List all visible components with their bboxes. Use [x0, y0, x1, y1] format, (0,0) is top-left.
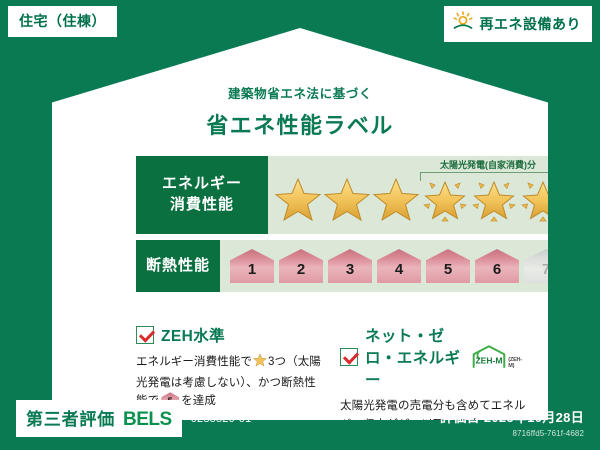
zeh-standard-title: ZEH水準 — [161, 324, 225, 346]
evaluation-footer: 評価日 2025年10月28日 8716ffd5-761f-4682 — [440, 407, 584, 438]
energy-performance-label: エネルギー 消費性能 — [136, 156, 268, 234]
net-zero-energy-header: ネット・ゼロ・エネルギー ZEH-M (ZEH-M) — [340, 324, 526, 390]
performance-rows: エネルギー 消費性能 太陽光発電(自家消費)分 — [136, 156, 568, 292]
zeh-standard-header: ZEH水準 — [136, 324, 322, 346]
star-icon — [274, 174, 322, 226]
bels-footer: 第三者評価 BELS 0285520-01 — [16, 400, 251, 437]
star-icon-solar — [421, 174, 469, 226]
document-type-tag: 住宅（住棟） — [8, 6, 117, 37]
energy-performance-row: エネルギー 消費性能 太陽光発電(自家消費)分 — [136, 156, 568, 234]
label-card: 建築物省エネ法に基づく 省エネ性能ラベル エネルギー 消費性能 太陽光発電(自家… — [52, 28, 548, 420]
insulation-level-badge-inactive: 7 — [524, 249, 568, 283]
energy-star-rating — [274, 174, 567, 226]
title-subtitle: 建築物省エネ法に基づく — [52, 83, 548, 102]
insulation-level-badge: 4 — [377, 249, 421, 283]
page-title: 省エネ性能ラベル — [52, 108, 548, 140]
title-block: 建築物省エネ法に基づく 省エネ性能ラベル — [52, 83, 548, 140]
insulation-level-badge: 1 — [230, 249, 274, 283]
checkmark-icon — [136, 326, 154, 344]
solar-annotation-label: 太陽光発電(自家消費)分 — [416, 158, 560, 171]
solar-sun-icon — [452, 11, 474, 36]
insulation-performance-row: 断熱性能 1 2 3 — [136, 240, 568, 292]
zeh-m-logo-caption: (ZEH-M) — [508, 357, 526, 371]
evaluation-date: 評価日 2025年10月28日 — [440, 407, 584, 426]
zeh-m-logo: ZEH-M (ZEH-M) — [471, 343, 526, 371]
renewable-badge-label: 再エネ設備あり — [480, 14, 582, 34]
star-icon — [323, 174, 371, 226]
star-icon — [253, 353, 267, 374]
bels-logo: 第三者評価 BELS — [16, 400, 182, 437]
renewable-equipment-badge: 再エネ設備あり — [444, 6, 593, 42]
star-icon-solar — [519, 174, 567, 226]
insulation-performance-label: 断熱性能 — [136, 240, 220, 292]
star-icon — [372, 174, 420, 226]
third-party-eval-label: 第三者評価 — [26, 405, 115, 430]
insulation-level-badge: 3 — [328, 249, 372, 283]
insulation-level-badge: 2 — [279, 249, 323, 283]
star-icon-solar — [470, 174, 518, 226]
energy-performance-body: 太陽光発電(自家消費)分 — [268, 156, 568, 234]
bels-number: 0285520-01 — [191, 413, 252, 425]
checkmark-icon — [340, 348, 358, 366]
insulation-level-scale: 1 2 3 4 — [226, 249, 568, 283]
net-zero-energy-title: ネット・ゼロ・エネルギー — [365, 324, 463, 390]
insulation-level-badge: 6 — [475, 249, 519, 283]
bels-wordmark: BELS — [123, 409, 172, 431]
label-background: 住宅（住棟） 再エネ設備あり 建築物省エネ法に基づく 省エネ性能ラベル — [0, 0, 600, 450]
label-uuid: 8716ffd5-761f-4682 — [440, 429, 584, 438]
insulation-performance-body: 1 2 3 4 — [220, 240, 568, 292]
svg-text:ZEH-M: ZEH-M — [476, 355, 503, 365]
insulation-level-badge: 5 — [426, 249, 470, 283]
